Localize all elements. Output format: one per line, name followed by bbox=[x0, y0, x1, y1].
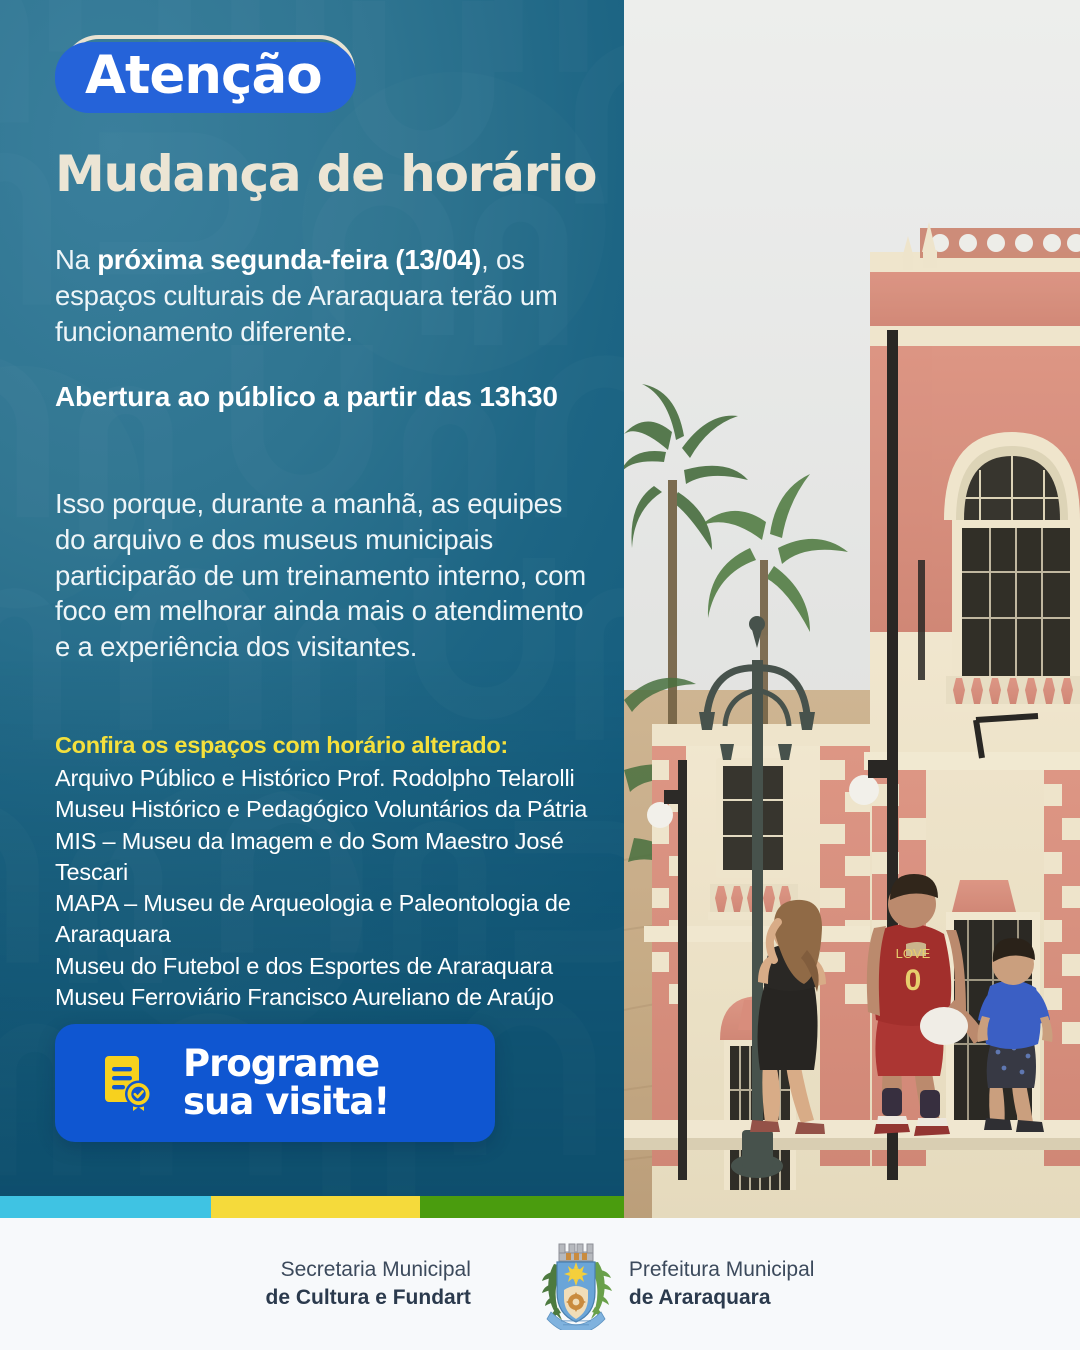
building-photograph: LOVE 0 bbox=[624, 0, 1080, 1218]
prefeitura-line-2: de Araraquara bbox=[629, 1284, 815, 1312]
footer: Secretaria Municipal de Cultura e Fundar… bbox=[0, 1218, 1080, 1350]
color-bar-yellow bbox=[211, 1196, 420, 1218]
opening-time-highlight: Abertura ao público a partir das 13h30 bbox=[55, 378, 575, 416]
secretaria-logo-text: Secretaria Municipal de Cultura e Fundar… bbox=[266, 1256, 471, 1313]
coat-of-arms-icon bbox=[537, 1238, 615, 1330]
list-item: Museu do Futebol e dos Esportes de Arara… bbox=[55, 951, 615, 982]
brand-color-bar bbox=[0, 1196, 624, 1218]
prefeitura-line-1: Prefeitura Municipal bbox=[629, 1256, 815, 1284]
attention-badge: Atenção bbox=[55, 42, 356, 113]
certificate-icon bbox=[103, 1054, 157, 1112]
reason-paragraph: Isso porque, durante a manhã, as equipes… bbox=[55, 486, 590, 665]
affected-spaces-list: Confira os espaços com horário alterado:… bbox=[55, 730, 615, 1013]
badge-pill: Atenção bbox=[55, 42, 356, 113]
schedule-visit-button[interactable]: Programe sua visita! bbox=[55, 1024, 495, 1142]
left-info-panel: Atenção Mudança de horário Na próxima se… bbox=[0, 0, 624, 1196]
list-item: Arquivo Público e Histórico Prof. Rodolp… bbox=[55, 763, 615, 794]
poster-root: Atenção Mudança de horário Na próxima se… bbox=[0, 0, 1080, 1350]
cta-label: Programe sua visita! bbox=[183, 1045, 389, 1120]
intro-paragraph: Na próxima segunda-feira (13/04), os esp… bbox=[55, 242, 575, 349]
list-item: Museu Histórico e Pedagógico Voluntários… bbox=[55, 794, 615, 825]
cta-line-1: Programe bbox=[183, 1045, 389, 1083]
prefeitura-logo-text: Prefeitura Municipal de Araraquara bbox=[629, 1256, 815, 1313]
badge-label: Atenção bbox=[85, 49, 322, 102]
color-bar-green bbox=[420, 1196, 624, 1218]
secretaria-line-1: Secretaria Municipal bbox=[266, 1256, 471, 1284]
prefeitura-logo: Prefeitura Municipal de Araraquara bbox=[537, 1238, 815, 1330]
list-item: Museu Ferroviário Francisco Aureliano de… bbox=[55, 982, 615, 1013]
intro-date: próxima segunda-feira (13/04) bbox=[97, 244, 481, 275]
secretaria-line-2: de Cultura e Fundart bbox=[266, 1284, 471, 1312]
cta-line-2: sua visita! bbox=[183, 1083, 389, 1121]
list-item: MIS – Museu da Imagem e do Som Maestro J… bbox=[55, 826, 615, 889]
page-title: Mudança de horário bbox=[55, 148, 596, 201]
color-bar-cyan bbox=[0, 1196, 211, 1218]
list-title: Confira os espaços com horário alterado: bbox=[55, 730, 615, 760]
intro-pre: Na bbox=[55, 244, 97, 275]
list-item: MAPA – Museu de Arqueologia e Paleontolo… bbox=[55, 888, 615, 951]
